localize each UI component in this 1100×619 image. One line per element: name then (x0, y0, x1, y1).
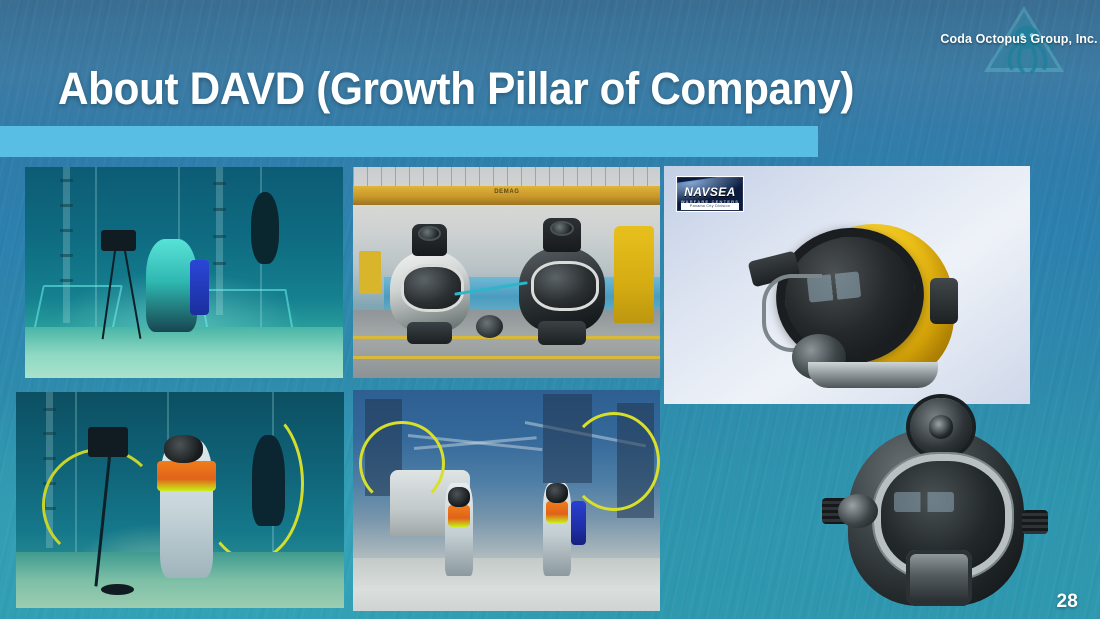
page-number: 28 (1056, 591, 1078, 613)
navsea-wordmark: NAVSEA (677, 185, 743, 199)
foreground-diver (146, 239, 197, 332)
safety-vest-right (546, 501, 567, 523)
safety-diver (252, 435, 285, 526)
diver-helmet-right (546, 483, 567, 503)
company-logo: Coda Octopus Group, Inc. (940, 2, 1098, 78)
navsea-logo: NAVSEA WARFARE CENTERS Panama City Divis… (676, 176, 744, 212)
tripod-camera (88, 427, 127, 457)
photo-helmets-deck: DEMAG (353, 167, 660, 378)
pool-floor (353, 558, 660, 611)
safety-vest-left (448, 505, 469, 527)
safety-vest (157, 461, 216, 491)
hose-coupling (476, 315, 504, 338)
yellow-umbilical-2 (568, 412, 660, 511)
pool-floor (25, 327, 343, 378)
diver-helmet-left (448, 487, 469, 507)
tripod-base (101, 584, 134, 595)
diver-helmet (164, 435, 203, 463)
octopus-icon (998, 18, 1056, 76)
yellow-umbilical (359, 421, 445, 507)
yellow-stanchion (359, 251, 380, 293)
page-title: About DAVD (Growth Pillar of Company) (58, 58, 904, 120)
photo-diver-whitesuit (16, 392, 344, 608)
tripod-camera (101, 230, 136, 251)
accent-bar (0, 126, 818, 157)
yellow-equipment-bag (614, 226, 654, 323)
davd-yellow-helmet (756, 216, 966, 386)
helmet-black (519, 247, 605, 331)
helmet-camera-icon (910, 398, 972, 456)
background-diver (251, 192, 280, 264)
photo-diver-tripod (25, 167, 343, 378)
navsea-footer: Panama City Division (681, 203, 739, 210)
hud-display (894, 492, 954, 512)
roof-truss (353, 167, 660, 186)
scuba-tank (190, 260, 209, 315)
logo-company-name: Coda Octopus Group, Inc. (940, 32, 1098, 46)
photo-davd-render: NAVSEA WARFARE CENTERS Panama City Divis… (664, 166, 1030, 404)
slide: Coda Octopus Group, Inc. About DAVD (Gro… (0, 0, 1100, 619)
photo-cutout-helmet (828, 398, 1044, 610)
scuba-tank (571, 501, 586, 545)
photo-nbl-divers (353, 390, 660, 611)
crane-label: DEMAG (494, 189, 519, 195)
